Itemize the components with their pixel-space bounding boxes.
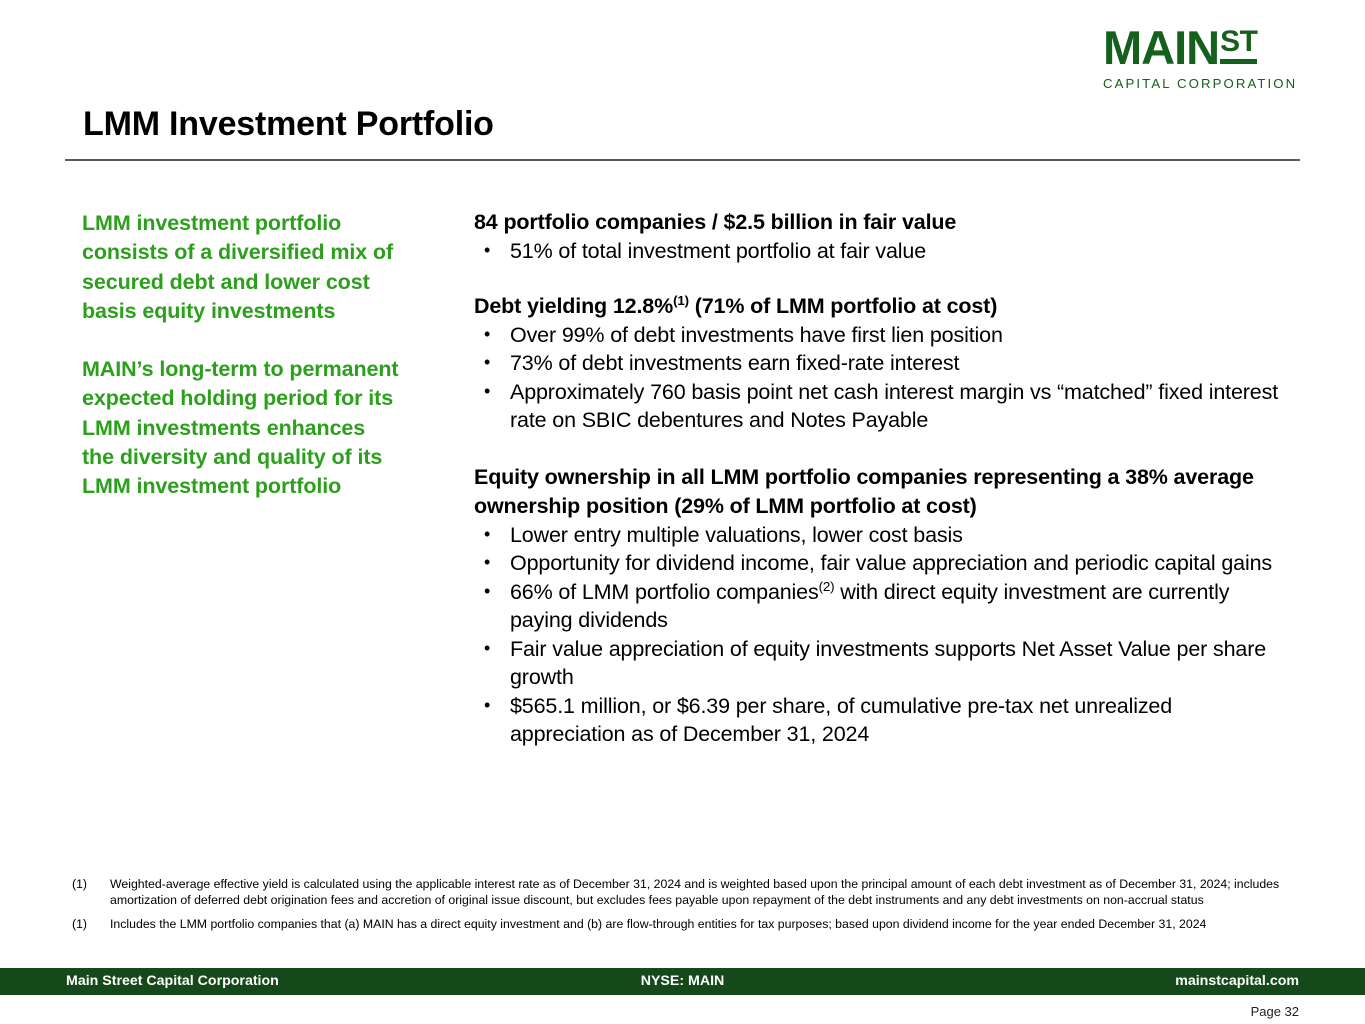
footer-website[interactable]: mainstcapital.com [1175,973,1299,989]
spacer [474,266,1289,292]
list-item: Opportunity for dividend income, fair va… [474,549,1289,578]
list-item: 73% of debt investments earn fixed-rate … [474,349,1289,378]
section-heading: Equity ownership in all LMM portfolio co… [474,463,1289,521]
left-highlight-column: LMM investment portfolio consists of a d… [82,209,402,502]
logo-st-text: ST [1220,27,1257,57]
section-equity-ownership: Equity ownership in all LMM portfolio co… [474,463,1289,749]
logo-st-group: ST [1220,27,1257,64]
bullet-list: 51% of total investment portfolio at fai… [474,237,1289,266]
company-logo: MAIN ST CAPITAL CORPORATION [1103,26,1299,91]
footnote-marker: (1) [72,917,102,933]
footnote-marker: (1) [72,877,102,893]
bullet-list: Over 99% of debt investments have first … [474,321,1289,435]
list-item: 66% of LMM portfolio companies(2) with d… [474,578,1289,635]
heading-suffix: (71% of LMM portfolio at cost) [689,294,997,318]
logo-underline-bar [1220,59,1257,64]
section-portfolio-companies: 84 portfolio companies / $2.5 billion in… [474,208,1289,266]
heading-prefix: Debt yielding 12.8% [474,294,673,318]
footnote-ref-1: (1) [673,292,689,307]
footnote-ref-2: (2) [819,578,835,593]
footnote-text: Weighted-average effective yield is calc… [110,877,1279,907]
list-item: 51% of total investment portfolio at fai… [474,237,1289,266]
section-heading: 84 portfolio companies / $2.5 billion in… [474,208,1289,237]
spacer [474,435,1289,463]
list-item: $565.1 million, or $6.39 per share, of c… [474,692,1289,749]
footer-bar: Main Street Capital Corporation NYSE: MA… [0,968,1365,995]
logo-main-text: MAIN [1103,26,1219,71]
page-title: LMM Investment Portfolio [83,105,494,144]
list-item: Fair value appreciation of equity invest… [474,635,1289,692]
bullet-list: Lower entry multiple valuations, lower c… [474,521,1289,749]
section-heading: Debt yielding 12.8%(1) (71% of LMM portf… [474,292,1289,321]
bullet-prefix: 66% of LMM portfolio companies [510,580,819,604]
list-item: Lower entry multiple valuations, lower c… [474,521,1289,550]
list-item: Over 99% of debt investments have first … [474,321,1289,350]
section-debt-yield: Debt yielding 12.8%(1) (71% of LMM portf… [474,292,1289,435]
highlight-paragraph-1: LMM investment portfolio consists of a d… [82,209,402,326]
footnotes-block: (1)Weighted-average effective yield is c… [72,877,1297,933]
list-item: Approximately 760 basis point net cash i… [474,378,1289,435]
footer-ticker: NYSE: MAIN [0,973,1365,989]
footnote-2: (1)Includes the LMM portfolio companies … [72,917,1297,933]
main-content-column: 84 portfolio companies / $2.5 billion in… [474,208,1289,749]
page-number: Page 32 [1251,1004,1299,1019]
footnote-1: (1)Weighted-average effective yield is c… [72,877,1297,908]
highlight-paragraph-2: MAIN’s long-term to permanent expected h… [82,355,402,501]
title-divider [65,159,1300,161]
logo-wordmark: MAIN ST [1103,26,1299,71]
footnote-text: Includes the LMM portfolio companies tha… [110,917,1206,931]
logo-subtitle: CAPITAL CORPORATION [1103,76,1299,91]
